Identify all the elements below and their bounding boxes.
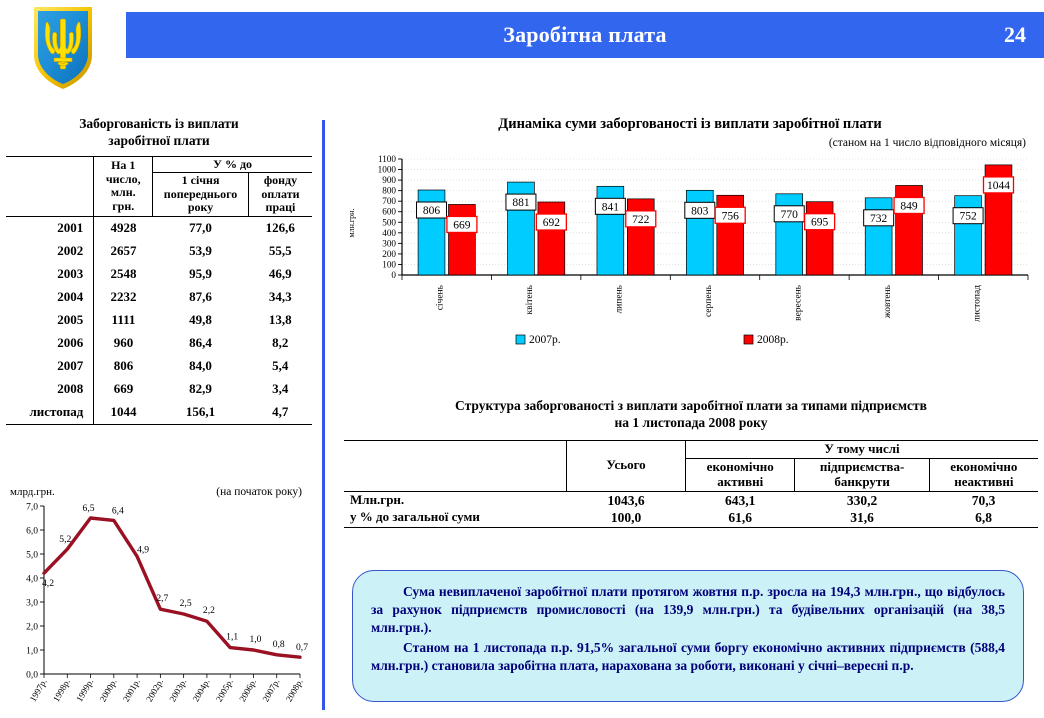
bar-chart-xtick-label: липень <box>615 284 625 313</box>
summary-paragraph-2: Станом на 1 листопада п.р. 91,5% загальн… <box>371 639 1005 675</box>
debt-cell-prev-year: 49,8 <box>153 309 249 332</box>
line-chart-value-label: 4,2 <box>42 578 54 589</box>
slide-header-banner: Заробітна плата 24 <box>126 12 1044 58</box>
debt-cell-period: 2004 <box>6 286 94 309</box>
table-row: 2004223287,634,3 <box>6 286 312 309</box>
debt-cell-prev-year: 77,0 <box>153 216 249 240</box>
bar-chart-ytick-label: 900 <box>382 175 396 185</box>
line-chart-ytick-label: 5,0 <box>26 550 38 560</box>
bar-label-2007: 732 <box>870 213 888 225</box>
line-chart-value-label: 6,4 <box>112 505 124 516</box>
debt-table-head: На 1 число, млн. грн. У % до 1 січня поп… <box>6 156 312 216</box>
line-chart-value-label: 5,2 <box>59 534 71 545</box>
line-chart-xtick-label: 2005р. <box>214 677 235 703</box>
debt-cell-period: листопад <box>6 401 94 425</box>
debt-cell-prev-year: 87,6 <box>153 286 249 309</box>
line-chart-xtick-label: 2008р. <box>284 677 305 703</box>
structure-col-bankrupt-header: підприємства- банкрути <box>795 458 929 491</box>
debt-cell-period: 2003 <box>6 263 94 286</box>
structure-col-total-header: Усього <box>567 440 686 491</box>
line-chart-ytick-label: 6,0 <box>26 526 38 536</box>
bar-chart-ytick-label: 700 <box>382 196 396 206</box>
bar-2008 <box>449 204 476 275</box>
legend-label: 2007р. <box>529 334 561 346</box>
line-chart-value-label: 1,1 <box>226 632 238 643</box>
debt-cell-prev-year: 53,9 <box>153 240 249 263</box>
debt-cell-absolute: 2657 <box>94 240 153 263</box>
structure-cell-inactive: 6,8 <box>929 509 1038 527</box>
debt-cell-fund: 13,8 <box>248 309 312 332</box>
debt-table: На 1 число, млн. грн. У % до 1 січня поп… <box>6 156 312 425</box>
bar-chart-xtick-label: жовтень <box>883 284 893 319</box>
debt-cell-absolute: 669 <box>94 378 153 401</box>
line-chart-value-label: 0,8 <box>273 639 285 650</box>
structure-cell-bankrupt: 31,6 <box>795 509 929 527</box>
legend-swatch <box>516 335 525 344</box>
line-chart-ylabel: млрд.грн. <box>10 486 55 498</box>
bar-chart-ytick-label: 1000 <box>378 165 397 175</box>
bar-label-2008: 1044 <box>987 180 1010 192</box>
line-chart-ytick-label: 7,0 <box>26 502 38 512</box>
table-row: 200696086,48,2 <box>6 332 312 355</box>
bar-chart-xtick-label: квітень <box>525 284 535 314</box>
bar-label-2008: 722 <box>632 214 650 226</box>
debt-table-title-line2: заробітної плати <box>6 133 312 150</box>
bar-label-2008: 669 <box>453 219 471 231</box>
bar-label-2008: 849 <box>900 200 918 212</box>
bar-label-2008: 756 <box>722 210 740 222</box>
bar-label-2008: 695 <box>811 217 829 229</box>
line-chart-value-label: 4,9 <box>137 544 149 555</box>
structure-title-line1: Структура заборгованості з виплати зароб… <box>344 398 1038 415</box>
bar-label-2007: 803 <box>691 205 709 217</box>
debt-cell-absolute: 960 <box>94 332 153 355</box>
structure-col-label-header <box>344 440 567 491</box>
table-row: Млн.грн.1043,6643,1330,270,3 <box>344 491 1038 509</box>
bar-chart-title: Динаміка суми заборгованості із виплати … <box>340 116 1040 133</box>
debt-cell-fund: 34,3 <box>248 286 312 309</box>
summary-note-box: Сума невиплаченої заробітної плати протя… <box>352 570 1024 702</box>
line-chart-xtick-label: 1999р. <box>74 677 95 703</box>
structure-col-active-header: економічно активні <box>686 458 795 491</box>
debt-table-body: 2001492877,0126,62002265753,955,52003254… <box>6 216 312 424</box>
table-row: 200866982,93,4 <box>6 378 312 401</box>
debt-col-period-header <box>6 156 94 216</box>
structure-table-title: Структура заборгованості з виплати зароб… <box>344 398 1038 432</box>
structure-table: Усього У тому числі економічно активні п… <box>344 440 1038 528</box>
bar-chart-ytick-label: 400 <box>382 228 396 238</box>
page-title: Заробітна плата <box>126 12 1044 58</box>
debt-cell-fund: 55,5 <box>248 240 312 263</box>
bar-chart-subtitle: (станом на 1 число відповідного місяця) <box>340 137 1040 149</box>
bar-label-2007: 841 <box>602 201 620 213</box>
panel-divider <box>322 120 325 710</box>
bar-chart-ytick-label: 100 <box>382 259 396 269</box>
structure-cell-active: 61,6 <box>686 509 795 527</box>
ukraine-coat-of-arms-icon <box>30 3 96 91</box>
line-chart-value-label: 1,0 <box>249 634 261 645</box>
structure-title-line2: на 1 листопада 2008 року <box>344 415 1038 432</box>
summary-paragraph-1: Сума невиплаченої заробітної плати протя… <box>371 583 1005 637</box>
line-chart-note: (на початок року) <box>216 486 302 498</box>
debt-cell-prev-year: 84,0 <box>153 355 249 378</box>
legend-swatch <box>744 335 753 344</box>
line-chart-xtick-label: 2007р. <box>260 677 281 703</box>
bar-chart-xtick-label: серпень <box>704 284 714 317</box>
debt-cell-fund: 3,4 <box>248 378 312 401</box>
structure-cell-inactive: 70,3 <box>929 491 1038 509</box>
debt-table-title: Заборгованість із виплати заробітної пла… <box>6 116 312 150</box>
legend-label: 2008р. <box>757 334 789 346</box>
debt-cell-period: 2008 <box>6 378 94 401</box>
table-row: 2003254895,946,9 <box>6 263 312 286</box>
bar-chart-ylabel: млн.грн. <box>347 209 356 238</box>
line-chart-canvas: 0,01,02,03,04,05,06,07,01997р.1998р.1999… <box>4 498 316 710</box>
bar-chart-canvas: млн.грн.01002003004005006007008009001000… <box>340 153 1040 353</box>
table-row: у % до загальної суми100,061,631,66,8 <box>344 509 1038 527</box>
bar-label-2007: 752 <box>959 211 977 223</box>
debt-cell-fund: 5,4 <box>248 355 312 378</box>
table-row: 2001492877,0126,6 <box>6 216 312 240</box>
bar-label-2008: 692 <box>543 217 561 229</box>
debt-cell-absolute: 2548 <box>94 263 153 286</box>
structure-table-body: Млн.грн.1043,6643,1330,270,3у % до загал… <box>344 491 1038 527</box>
line-chart-ytick-label: 0,0 <box>26 670 38 680</box>
bar-chart-ytick-label: 800 <box>382 186 396 196</box>
bar-chart-ytick-label: 1100 <box>378 154 396 164</box>
structure-cell-label: Млн.грн. <box>344 491 567 509</box>
line-chart-value-label: 6,5 <box>83 503 95 514</box>
debt-cell-absolute: 806 <box>94 355 153 378</box>
structure-col-group-header: У тому числі <box>686 440 1039 458</box>
bar-label-2007: 806 <box>423 205 441 217</box>
structure-cell-active: 643,1 <box>686 491 795 509</box>
table-row: 2005111149,813,8 <box>6 309 312 332</box>
table-row: 200780684,05,4 <box>6 355 312 378</box>
bar-chart-ytick-label: 500 <box>382 217 396 227</box>
bar-2008 <box>538 202 565 275</box>
line-chart-xtick-label: 1998р. <box>51 677 72 703</box>
debt-col-prev-year-header: 1 січня попереднього року <box>153 173 249 216</box>
structure-cell-total: 100,0 <box>567 509 686 527</box>
line-chart-xtick-label: 2002р. <box>144 677 165 703</box>
line-chart-value-label: 0,7 <box>296 642 308 653</box>
line-chart-xtick-label: 2004р. <box>191 677 212 703</box>
bar-chart-ytick-label: 0 <box>391 270 396 280</box>
structure-cell-label: у % до загальної суми <box>344 509 567 527</box>
debt-col-percent-group-header: У % до <box>153 156 312 172</box>
bar-2008 <box>806 202 833 275</box>
table-row: листопад1044156,14,7 <box>6 401 312 425</box>
debt-col-fund-header: фонду оплати праці <box>248 173 312 216</box>
debt-cell-fund: 126,6 <box>248 216 312 240</box>
debt-cell-absolute: 2232 <box>94 286 153 309</box>
line-chart-value-label: 2,5 <box>180 598 192 609</box>
line-chart-ytick-label: 1,0 <box>26 646 38 656</box>
line-chart-value-label: 2,2 <box>203 605 215 616</box>
debt-cell-prev-year: 95,9 <box>153 263 249 286</box>
debt-cell-prev-year: 156,1 <box>153 401 249 425</box>
bar-chart-ytick-label: 200 <box>382 249 396 259</box>
bar-label-2007: 881 <box>512 197 530 209</box>
debt-table-title-line1: Заборгованість із виплати <box>6 116 312 133</box>
structure-header-row-1: Усього У тому числі <box>344 440 1038 458</box>
structure-col-inactive-header: економічно неактивні <box>929 458 1038 491</box>
structure-cell-bankrupt: 330,2 <box>795 491 929 509</box>
bar-chart-xtick-label: листопад <box>972 285 982 322</box>
line-chart-ytick-label: 2,0 <box>26 622 38 632</box>
structure-table-section: Структура заборгованості з виплати зароб… <box>344 398 1038 528</box>
bar-label-2007: 770 <box>781 209 799 221</box>
debt-cell-period: 2001 <box>6 216 94 240</box>
bar-chart-xtick-label: вересень <box>793 284 803 320</box>
debt-cell-period: 2007 <box>6 355 94 378</box>
debt-cell-fund: 8,2 <box>248 332 312 355</box>
bar-chart-ytick-label: 300 <box>382 238 396 248</box>
table-row: 2002265753,955,5 <box>6 240 312 263</box>
page-number: 24 <box>1004 12 1026 58</box>
line-chart-ytick-label: 3,0 <box>26 598 38 608</box>
line-chart-ytick-label: 4,0 <box>26 574 38 584</box>
line-chart-xtick-label: 2000р. <box>98 677 119 703</box>
debt-cell-absolute: 1044 <box>94 401 153 425</box>
debt-cell-prev-year: 86,4 <box>153 332 249 355</box>
bar-chart-plot-area: млн.грн.01002003004005006007008009001000… <box>340 153 1040 358</box>
line-chart-series <box>44 518 300 657</box>
debt-dynamics-bar-chart: Динаміка суми заборгованості із виплати … <box>340 114 1040 374</box>
line-chart-value-label: 2,7 <box>156 593 168 604</box>
debt-start-of-year-line-chart: млрд.грн. (на початок року) 0,01,02,03,0… <box>4 486 316 714</box>
line-chart-xtick-label: 2006р. <box>237 677 258 703</box>
debt-table-header-row-1: На 1 число, млн. грн. У % до <box>6 156 312 172</box>
debt-cell-period: 2005 <box>6 309 94 332</box>
line-chart-xtick-label: 2003р. <box>167 677 188 703</box>
debt-cell-prev-year: 82,9 <box>153 378 249 401</box>
structure-cell-total: 1043,6 <box>567 491 686 509</box>
debt-cell-fund: 46,9 <box>248 263 312 286</box>
bar-chart-ytick-label: 600 <box>382 207 396 217</box>
debt-cell-period: 2006 <box>6 332 94 355</box>
debt-cell-absolute: 4928 <box>94 216 153 240</box>
debt-table-section: Заборгованість із виплати заробітної пла… <box>6 116 312 425</box>
line-chart-xtick-label: 2001р. <box>121 677 142 703</box>
bar-chart-xtick-label: січень <box>436 284 446 310</box>
structure-table-head: Усього У тому числі економічно активні п… <box>344 440 1038 491</box>
debt-cell-period: 2002 <box>6 240 94 263</box>
debt-col-absolute-header: На 1 число, млн. грн. <box>94 156 153 216</box>
line-chart-xtick-label: 1997р. <box>28 677 49 703</box>
debt-cell-absolute: 1111 <box>94 309 153 332</box>
debt-cell-fund: 4,7 <box>248 401 312 425</box>
